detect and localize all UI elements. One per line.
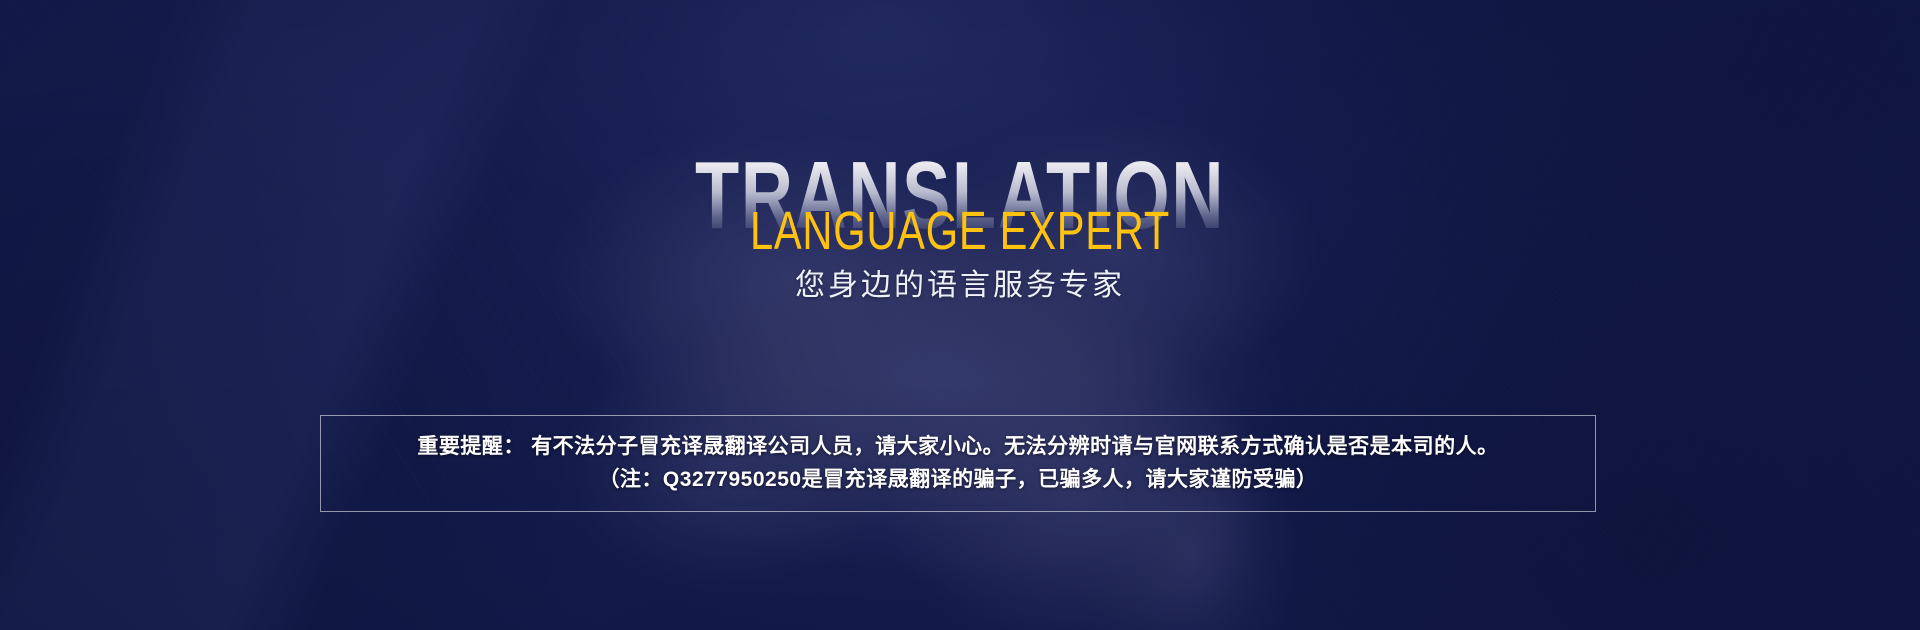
notice-line-2: （注：Q3277950250是冒充译晟翻译的骗子，已骗多人，请大家谨防受骗）	[598, 466, 1317, 495]
hero-banner: TRANSLATION LANGUAGE EXPERT 您身边的语言服务专家 重…	[0, 0, 1920, 630]
headline-group: TRANSLATION LANGUAGE EXPERT 您身边的语言服务专家	[0, 0, 1920, 250]
important-notice-box: 重要提醒： 有不法分子冒充译晟翻译公司人员，请大家小心。无法分辨时请与官网联系方…	[320, 415, 1596, 512]
banner-subtitle: 您身边的语言服务专家	[795, 260, 1125, 304]
notice-line-1: 重要提醒： 有不法分子冒充译晟翻译公司人员，请大家小心。无法分辨时请与官网联系方…	[417, 433, 1498, 462]
banner-content: TRANSLATION LANGUAGE EXPERT 您身边的语言服务专家 重…	[0, 0, 1920, 630]
headline-language-expert: LANGUAGE EXPERT	[750, 204, 1170, 258]
